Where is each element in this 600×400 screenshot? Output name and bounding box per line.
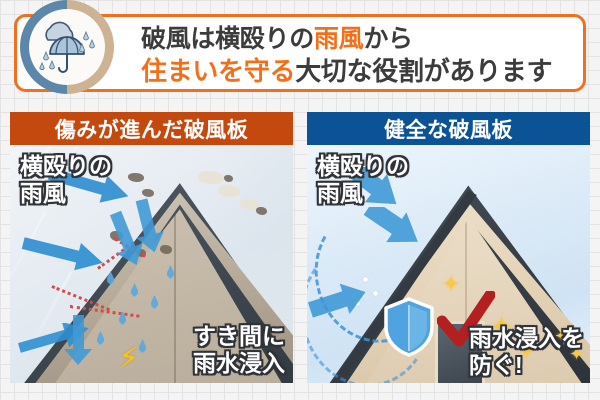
caption-line-1: すき間に xyxy=(193,323,285,350)
caption-line-1: 横殴りの xyxy=(317,153,409,180)
panel-left-caption-bottom: すき間に 雨水浸入 xyxy=(193,323,285,377)
badge-inner xyxy=(29,9,105,85)
panel-left-title: 傷みが進んだ破風板 xyxy=(10,112,293,145)
peeling-paint xyxy=(198,171,224,184)
caption-line-1: 横殴りの xyxy=(20,153,112,180)
panel-right-title: 健全な破風板 xyxy=(307,112,590,145)
decay-patch xyxy=(256,207,267,215)
caption-line-2: 雨風 xyxy=(20,180,112,207)
shield-icon xyxy=(383,297,435,357)
panel-left-caption-top: 横殴りの 雨風 xyxy=(20,153,112,207)
header-line-2: 住まいを守る大切な役割があります xyxy=(141,55,575,87)
lightning-bolt-icon: ⚡ xyxy=(118,341,139,376)
sparkle-icon: ✦ xyxy=(441,273,461,297)
panel-right-caption-bottom: 雨水浸入を 防ぐ! xyxy=(469,325,584,379)
header-text-block: 破風は横殴りの雨風から 住まいを守る大切な役割があります xyxy=(141,22,575,90)
water-intrusion-arrow-icon xyxy=(62,313,96,367)
panel-healthy-fascia: 健全な破風板 xyxy=(307,112,590,383)
decay-patch xyxy=(142,189,154,197)
header-line1-highlight: 雨風 xyxy=(314,25,363,53)
peeling-paint xyxy=(218,185,240,197)
header-line-1: 破風は横殴りの雨風から xyxy=(141,24,575,55)
caption-line-2: 雨風 xyxy=(317,180,409,207)
panel-damaged-fascia: 傷みが進んだ破風板 xyxy=(10,112,293,383)
water-intrusion-arrow-icon xyxy=(128,197,168,255)
panel-left-photo: ⚡ 横殴りの 雨風 すき間に 雨水浸入 xyxy=(10,145,293,383)
caption-line-1: 雨水浸入を xyxy=(469,325,584,352)
cloud-rain-umbrella-glyph xyxy=(36,18,98,76)
caption-line-2: 雨水浸入 xyxy=(193,350,285,377)
rain-umbrella-icon xyxy=(20,0,114,94)
header-line1-part2: から xyxy=(363,25,412,53)
header-line2-highlight: 住まいを守る xyxy=(141,56,295,86)
panel-right-photo: ✦ ✦ ✦ ✦ ✦ 横殴りの 雨風 雨水浸入を 防ぐ! xyxy=(307,145,590,383)
wind-arrow-icon xyxy=(20,237,106,271)
panel-right-caption-top: 横殴りの 雨風 xyxy=(317,153,409,207)
header-line1-part1: 破風は横殴りの xyxy=(141,25,314,53)
header-line2-part2: 大切な役割があります xyxy=(295,56,552,86)
caption-line-2: 防ぐ! xyxy=(469,352,584,379)
decay-patch xyxy=(224,175,233,182)
